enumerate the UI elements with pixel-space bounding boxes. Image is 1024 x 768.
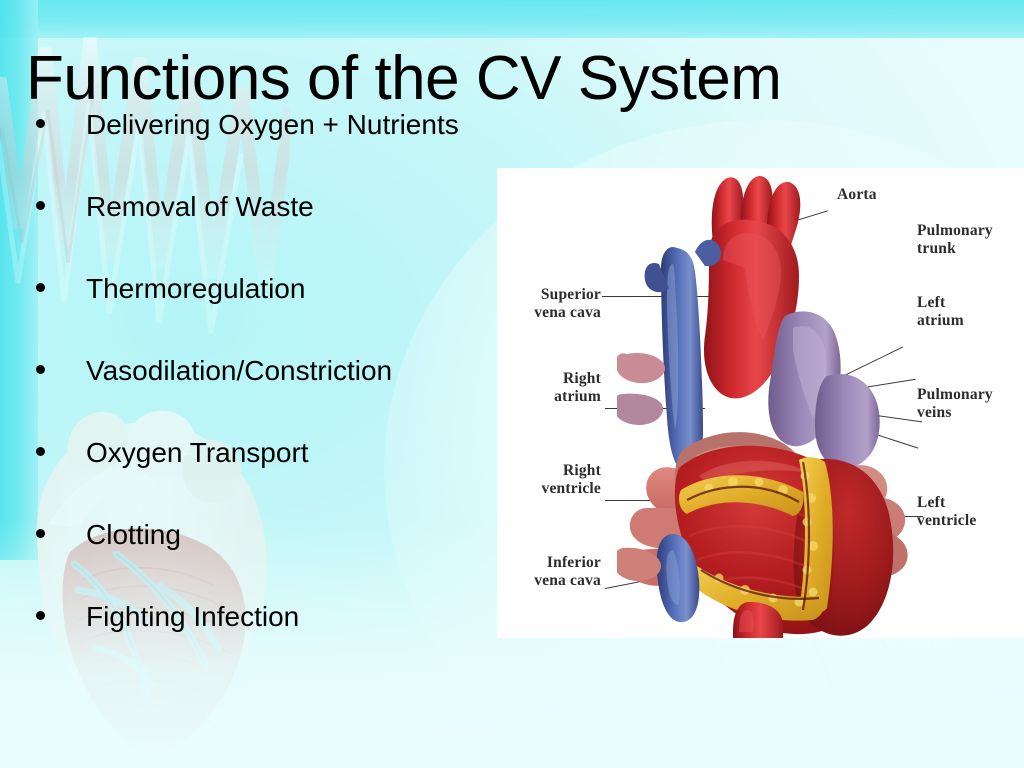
diagram-label-inferior-vena-cava: Inferior vena cava xyxy=(501,554,601,590)
list-item-label: Oxygen Transport xyxy=(86,437,309,468)
list-item-label: Removal of Waste xyxy=(86,191,314,222)
list-item: Oxygen Transport xyxy=(28,436,498,518)
list-item: Delivering Oxygen + Nutrients xyxy=(28,108,498,190)
diagram-label-superior-vena-cava: Superior vena cava xyxy=(501,286,601,322)
bullet-dot-icon xyxy=(36,283,45,292)
list-item-label: Vasodilation/Constriction xyxy=(86,355,392,386)
bullet-dot-icon xyxy=(36,201,45,210)
list-item: Vasodilation/Constriction xyxy=(28,354,498,436)
diagram-label-aorta: Aorta xyxy=(837,186,977,204)
diagram-label-right-ventricle: Right ventricle xyxy=(501,462,601,498)
bullet-dot-icon xyxy=(36,447,45,456)
list-item: Clotting xyxy=(28,518,498,600)
list-item: Thermoregulation xyxy=(28,272,498,354)
diagram-label-pulmonary-trunk: Pulmonary trunk xyxy=(917,222,1024,258)
list-item-label: Thermoregulation xyxy=(86,273,305,304)
diagram-label-pulmonary-veins: Pulmonary veins xyxy=(917,386,1024,422)
list-item-label: Delivering Oxygen + Nutrients xyxy=(86,109,459,140)
bullet-list: Delivering Oxygen + Nutrients Removal of… xyxy=(28,108,498,682)
list-item-label: Fighting Infection xyxy=(86,601,299,632)
heart-illustration xyxy=(617,168,917,638)
bullet-dot-icon xyxy=(36,119,45,128)
list-item: Fighting Infection xyxy=(28,600,498,682)
bullet-dot-icon xyxy=(36,611,45,620)
list-item: Removal of Waste xyxy=(28,190,498,272)
diagram-label-left-ventricle: Left ventricle xyxy=(917,494,1024,530)
bullet-dot-icon xyxy=(36,365,45,374)
heart-anatomy-diagram: Superior vena cava Right atrium Right ve… xyxy=(497,168,1024,638)
diagram-label-right-atrium: Right atrium xyxy=(501,370,601,406)
bullet-dot-icon xyxy=(36,529,45,538)
list-item-label: Clotting xyxy=(86,519,181,550)
presentation-slide: Functions of the CV System Delivering Ox… xyxy=(0,0,1024,768)
page-title: Functions of the CV System xyxy=(26,48,926,110)
diagram-label-left-atrium: Left atrium xyxy=(917,294,1024,330)
